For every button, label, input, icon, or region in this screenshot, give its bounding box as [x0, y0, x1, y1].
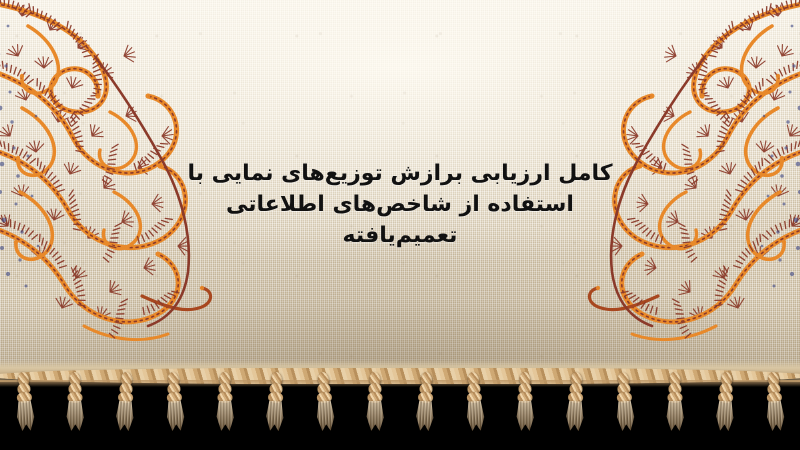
tassel	[512, 370, 538, 448]
tassel-brush	[15, 401, 36, 432]
tassel-brush	[714, 401, 735, 432]
tassel	[760, 369, 790, 448]
slide-title: کامل ارزیابی برازش توزیع‌های نمایی با اس…	[185, 158, 615, 251]
tassel	[160, 369, 190, 448]
tassel	[362, 370, 388, 448]
tassel	[710, 369, 740, 448]
tassel	[560, 369, 590, 448]
tassel	[662, 370, 688, 448]
tassel-brush	[516, 401, 535, 431]
title-line-1: کامل ارزیابی برازش توزیع‌های نمایی با	[185, 158, 615, 189]
tassel	[10, 369, 40, 448]
tassel-brush	[216, 401, 235, 431]
tassel	[110, 369, 140, 448]
tassel	[410, 369, 440, 448]
tassel-brush	[666, 401, 685, 431]
tassel-brush	[564, 401, 585, 432]
tassel-brush	[114, 401, 135, 432]
tassel-brush	[165, 401, 186, 432]
tassel-brush	[615, 401, 636, 432]
tassel	[610, 369, 640, 448]
tassel	[62, 370, 88, 448]
title-line-3: تعمیم‌یافته	[185, 220, 615, 251]
tassel-brush	[414, 401, 435, 432]
slide-canvas: کامل ارزیابی برازش توزیع‌های نمایی با اس…	[0, 0, 800, 450]
tassel-brush	[315, 401, 336, 432]
tassel-brush	[66, 401, 85, 431]
tassel-brush	[465, 401, 486, 432]
tassel	[260, 369, 290, 448]
tassel	[212, 370, 238, 448]
tassel	[310, 369, 340, 448]
tassel-brush	[264, 401, 285, 432]
tassel-brush	[765, 401, 786, 432]
title-line-2: استفاده از شاخص‌های اطلاعاتی	[185, 189, 615, 220]
tassel	[460, 369, 490, 448]
tassel-brush	[366, 401, 385, 431]
tassel-fringe	[0, 370, 800, 450]
